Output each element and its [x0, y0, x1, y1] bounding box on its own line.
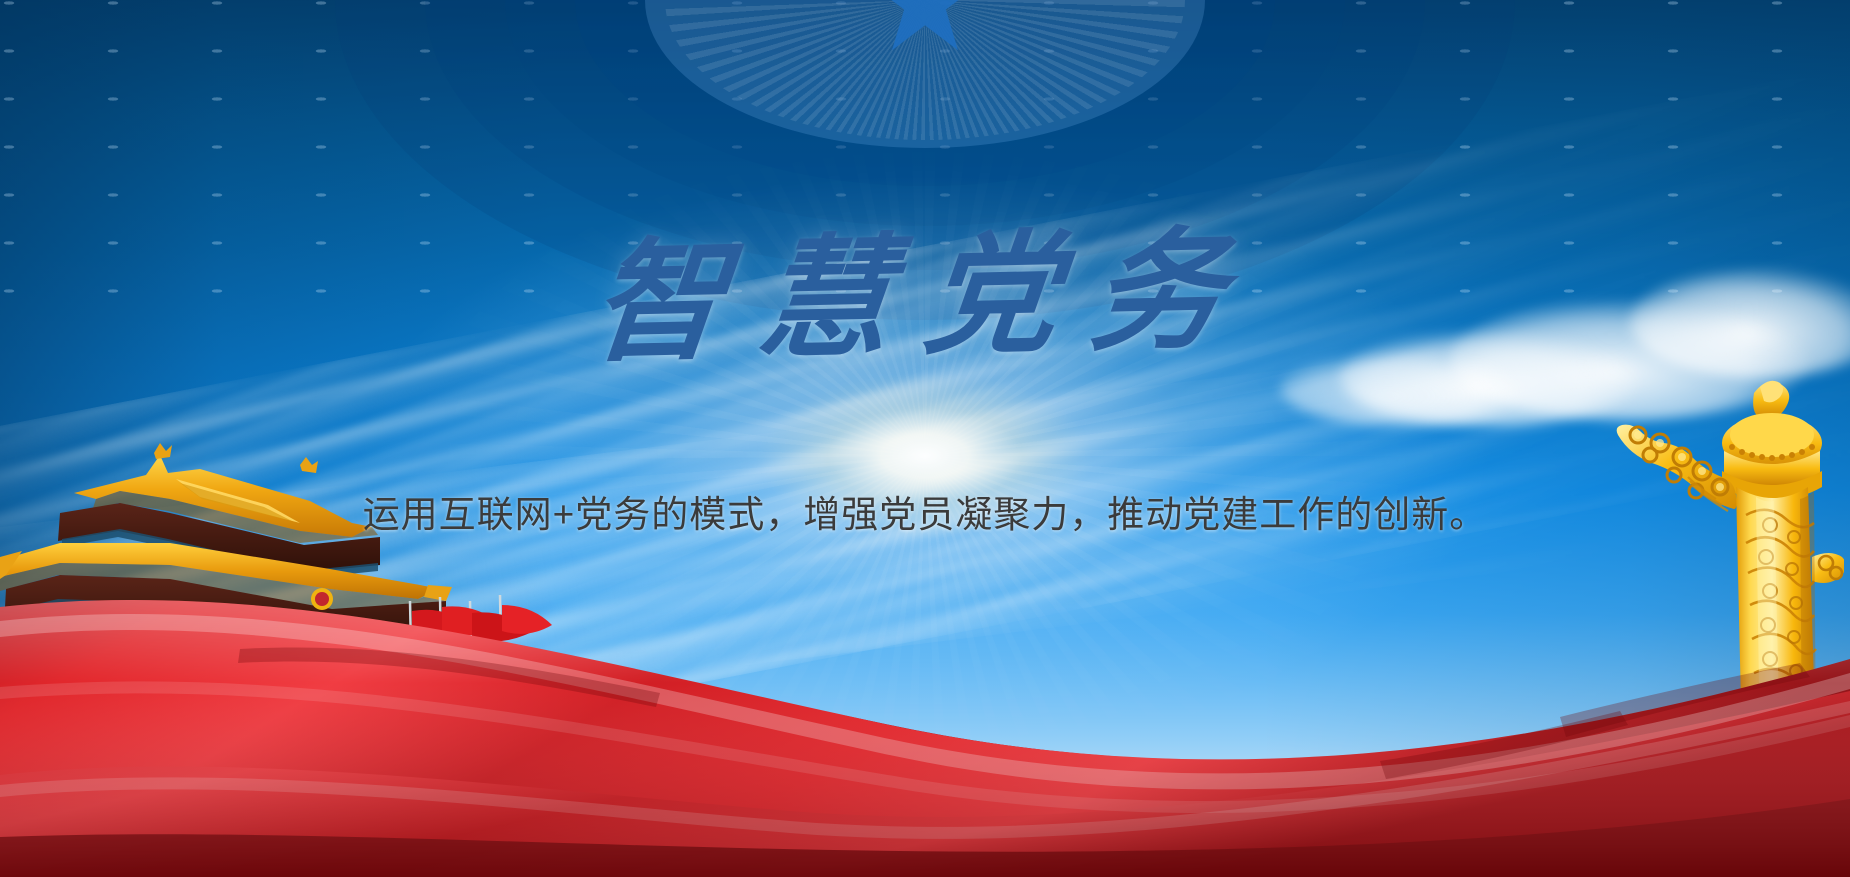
banner-subtitle-wrap: 运用互联网+党务的模式，增强党员凝聚力，推动党建工作的创新。	[0, 492, 1850, 538]
red-silk-ribbon	[0, 537, 1850, 877]
banner-title-wrap: 智慧党务	[0, 228, 1850, 367]
party-affairs-hero-banner: 智慧党务 运用互联网+党务的模式，增强党员凝聚力，推动党建工作的创新。	[0, 0, 1850, 877]
banner-subtitle: 运用互联网+党务的模式，增强党员凝聚力，推动党建工作的创新。	[363, 492, 1488, 538]
page-title: 智慧党务	[585, 221, 1265, 373]
